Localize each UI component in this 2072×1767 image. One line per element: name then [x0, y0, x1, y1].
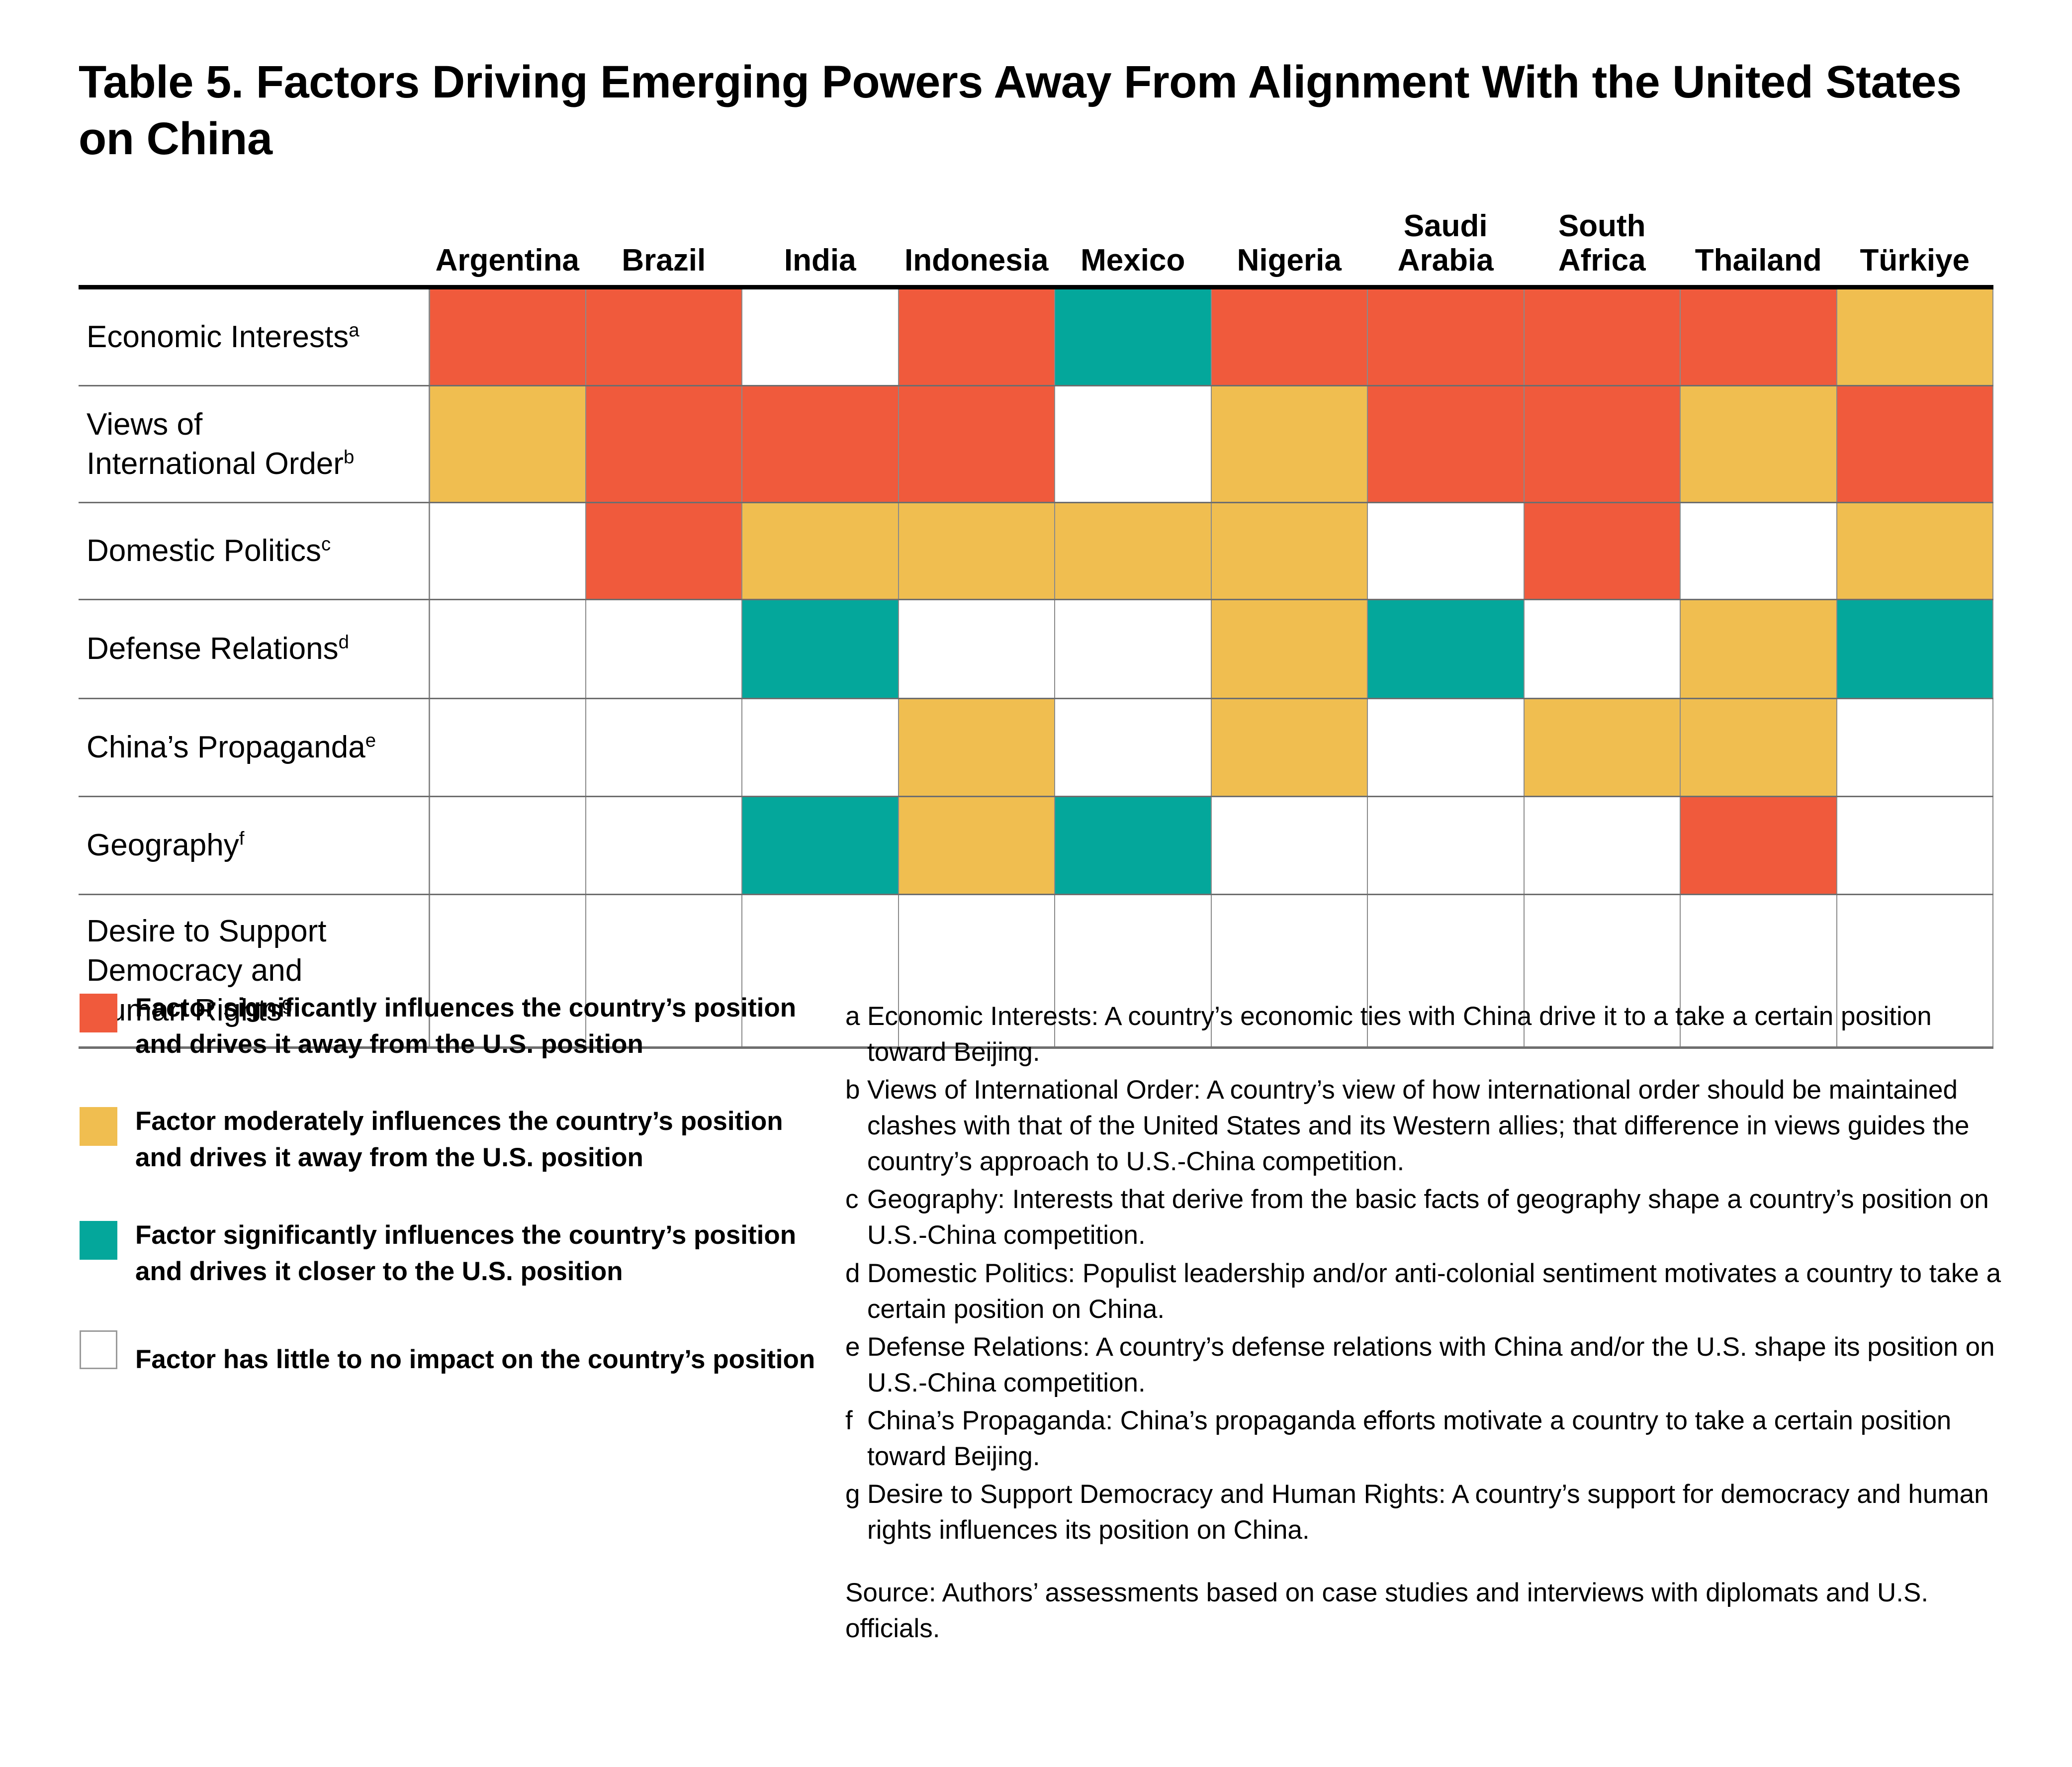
cell-economic-interests-nigeria: [1211, 287, 1368, 385]
cell-chinas-propaganda-thailand: [1680, 698, 1837, 796]
cell-chinas-propaganda-turkiye: [1837, 698, 1993, 796]
legend-swatch-teal-icon: [80, 1221, 117, 1260]
cell-domestic-politics-saudi-arabia: [1367, 502, 1524, 599]
cell-views-of-international-order-turkiye: [1837, 385, 1993, 502]
footnote-text-b: Views of International Order: A country’…: [867, 1072, 2009, 1180]
column-header-south-africa: South Africa: [1524, 209, 1681, 287]
legend-label-no-impact: Factor has little to no impact on the co…: [135, 1330, 815, 1378]
cell-economic-interests-argentina: [429, 287, 586, 385]
cell-geography-south-africa: [1524, 796, 1681, 894]
footnote-marker-g: g: [845, 1477, 867, 1512]
column-header-mexico: Mexico: [1055, 209, 1211, 287]
column-header-turkiye: Türkiye: [1837, 209, 1993, 287]
page-title: Table 5. Factors Driving Emerging Powers…: [79, 54, 1968, 167]
footnote-a: a Economic Interests: A country’s econom…: [845, 999, 2009, 1070]
footnote-g: g Desire to Support Democracy and Human …: [845, 1477, 2009, 1548]
cell-economic-interests-south-africa: [1524, 287, 1681, 385]
cell-defense-relations-turkiye: [1837, 599, 1993, 698]
footnotes: a Economic Interests: A country’s econom…: [845, 999, 2009, 1647]
legend-item-significant-closer: Factor significantly influences the coun…: [80, 1217, 825, 1290]
cell-domestic-politics-nigeria: [1211, 502, 1368, 599]
row-footnote-marker: d: [339, 632, 349, 653]
legend-swatch-empty-icon: [80, 1330, 117, 1369]
footnote-text-d: Domestic Politics: Populist leadership a…: [867, 1256, 2009, 1327]
legend-swatch-red-icon: [80, 994, 117, 1032]
row-label-defense-relations: Defense Relationsd: [79, 599, 429, 698]
row-label-domestic-politics: Domestic Politicsc: [79, 502, 429, 599]
footnote-marker-e: e: [845, 1329, 867, 1365]
cell-views-of-international-order-south-africa: [1524, 385, 1681, 502]
footnote-b: b Views of International Order: A countr…: [845, 1072, 2009, 1180]
cell-chinas-propaganda-indonesia: [899, 698, 1055, 796]
cell-geography-thailand: [1680, 796, 1837, 894]
cell-views-of-international-order-argentina: [429, 385, 586, 502]
cell-geography-turkiye: [1837, 796, 1993, 894]
cell-chinas-propaganda-south-africa: [1524, 698, 1681, 796]
table-row: Domestic Politicsc: [79, 502, 1993, 599]
row-label-text: Geography: [87, 828, 239, 862]
cell-chinas-propaganda-argentina: [429, 698, 586, 796]
footnote-marker-a: a: [845, 999, 867, 1034]
column-header-nigeria: Nigeria: [1211, 209, 1368, 287]
row-label-text: Domestic Politics: [87, 534, 321, 568]
legend-swatch-yellow-icon: [80, 1107, 117, 1146]
cell-domestic-politics-thailand: [1680, 502, 1837, 599]
column-header-thailand: Thailand: [1680, 209, 1837, 287]
footnote-text-c: Geography: Interests that derive from th…: [867, 1182, 2009, 1253]
cell-economic-interests-saudi-arabia: [1367, 287, 1524, 385]
cell-views-of-international-order-indonesia: [899, 385, 1055, 502]
footnote-text-f: China’s Propaganda: China’s propaganda e…: [867, 1403, 2009, 1475]
matrix-table-wrapper: Argentina Brazil India Indonesia Mexico …: [79, 209, 1993, 1049]
legend-label-moderate-away: Factor moderately influences the country…: [135, 1103, 783, 1176]
cell-defense-relations-mexico: [1055, 599, 1211, 698]
cell-domestic-politics-south-africa: [1524, 502, 1681, 599]
row-label-economic-interests: Economic Interestsa: [79, 287, 429, 385]
cell-chinas-propaganda-brazil: [586, 698, 742, 796]
row-footnote-marker: c: [321, 534, 331, 555]
row-label-text: Economic Interests: [87, 320, 349, 354]
footnote-d: d Domestic Politics: Populist leadership…: [845, 1256, 2009, 1327]
row-footnote-marker: e: [365, 730, 376, 751]
footnote-text-e: Defense Relations: A country’s defense r…: [867, 1329, 2009, 1401]
cell-defense-relations-saudi-arabia: [1367, 599, 1524, 698]
cell-economic-interests-india: [742, 287, 899, 385]
cell-chinas-propaganda-mexico: [1055, 698, 1211, 796]
table-row: Geographyf: [79, 796, 1993, 894]
cell-defense-relations-indonesia: [899, 599, 1055, 698]
table-page: Table 5. Factors Driving Emerging Powers…: [0, 0, 2072, 1767]
table-row: Views of International Orderb: [79, 385, 1993, 502]
table-row: Defense Relationsd: [79, 599, 1993, 698]
cell-defense-relations-nigeria: [1211, 599, 1368, 698]
cell-defense-relations-brazil: [586, 599, 742, 698]
table-body: Economic Interestsa Views of Internation…: [79, 287, 1993, 1047]
row-footnote-marker: f: [239, 828, 245, 849]
cell-domestic-politics-india: [742, 502, 899, 599]
cell-geography-argentina: [429, 796, 586, 894]
column-header-brazil: Brazil: [586, 209, 742, 287]
legend: Factor significantly influences the coun…: [80, 990, 825, 1378]
table-row: Economic Interestsa: [79, 287, 1993, 385]
cell-geography-india: [742, 796, 899, 894]
row-label-text: Views of International Order: [87, 407, 344, 481]
cell-geography-nigeria: [1211, 796, 1368, 894]
cell-economic-interests-brazil: [586, 287, 742, 385]
cell-defense-relations-argentina: [429, 599, 586, 698]
row-footnote-marker: a: [349, 320, 359, 341]
legend-label-significant-away: Factor significantly influences the coun…: [135, 990, 796, 1062]
row-label-text: Defense Relations: [87, 632, 339, 666]
cell-chinas-propaganda-saudi-arabia: [1367, 698, 1524, 796]
footnote-e: e Defense Relations: A country’s defense…: [845, 1329, 2009, 1401]
cell-chinas-propaganda-india: [742, 698, 899, 796]
cell-economic-interests-turkiye: [1837, 287, 1993, 385]
table-header: Argentina Brazil India Indonesia Mexico …: [79, 209, 1993, 287]
header-corner-cell: [79, 209, 429, 287]
footnote-marker-f: f: [845, 1403, 867, 1439]
footnote-f: f China’s Propaganda: China’s propaganda…: [845, 1403, 2009, 1475]
footnote-text-g: Desire to Support Democracy and Human Ri…: [867, 1477, 2009, 1548]
source-note: Source: Authors’ assessments based on ca…: [845, 1575, 2009, 1647]
legend-item-moderate-away: Factor moderately influences the country…: [80, 1103, 825, 1176]
footnote-text-a: Economic Interests: A country’s economic…: [867, 999, 2009, 1070]
cell-views-of-international-order-mexico: [1055, 385, 1211, 502]
cell-views-of-international-order-india: [742, 385, 899, 502]
cell-domestic-politics-brazil: [586, 502, 742, 599]
row-footnote-marker: b: [344, 446, 354, 467]
cell-geography-saudi-arabia: [1367, 796, 1524, 894]
cell-defense-relations-south-africa: [1524, 599, 1681, 698]
cell-domestic-politics-mexico: [1055, 502, 1211, 599]
row-label-geography: Geographyf: [79, 796, 429, 894]
row-label-chinas-propaganda: China’s Propagandae: [79, 698, 429, 796]
row-label-views-of-international-order: Views of International Orderb: [79, 385, 429, 502]
factors-matrix-table: Argentina Brazil India Indonesia Mexico …: [79, 209, 1993, 1049]
cell-domestic-politics-indonesia: [899, 502, 1055, 599]
cell-economic-interests-indonesia: [899, 287, 1055, 385]
column-header-indonesia: Indonesia: [899, 209, 1055, 287]
cell-economic-interests-mexico: [1055, 287, 1211, 385]
column-header-saudi-arabia: Saudi Arabia: [1367, 209, 1524, 287]
column-header-india: India: [742, 209, 899, 287]
cell-economic-interests-thailand: [1680, 287, 1837, 385]
cell-views-of-international-order-brazil: [586, 385, 742, 502]
legend-label-significant-closer: Factor significantly influences the coun…: [135, 1217, 796, 1290]
table-row: China’s Propagandae: [79, 698, 1993, 796]
legend-item-significant-away: Factor significantly influences the coun…: [80, 990, 825, 1062]
cell-chinas-propaganda-nigeria: [1211, 698, 1368, 796]
column-header-argentina: Argentina: [429, 209, 586, 287]
cell-views-of-international-order-saudi-arabia: [1367, 385, 1524, 502]
cell-domestic-politics-argentina: [429, 502, 586, 599]
footnote-marker-b: b: [845, 1072, 867, 1108]
footnote-c: c Geography: Interests that derive from …: [845, 1182, 2009, 1253]
cell-domestic-politics-turkiye: [1837, 502, 1993, 599]
footnote-marker-d: d: [845, 1256, 867, 1292]
row-label-text: China’s Propaganda: [87, 730, 365, 764]
cell-defense-relations-india: [742, 599, 899, 698]
legend-item-no-impact: Factor has little to no impact on the co…: [80, 1330, 825, 1378]
header-row: Argentina Brazil India Indonesia Mexico …: [79, 209, 1993, 287]
cell-views-of-international-order-thailand: [1680, 385, 1837, 502]
cell-geography-brazil: [586, 796, 742, 894]
footnote-marker-c: c: [845, 1182, 867, 1217]
cell-defense-relations-thailand: [1680, 599, 1837, 698]
cell-geography-mexico: [1055, 796, 1211, 894]
cell-views-of-international-order-nigeria: [1211, 385, 1368, 502]
cell-geography-indonesia: [899, 796, 1055, 894]
